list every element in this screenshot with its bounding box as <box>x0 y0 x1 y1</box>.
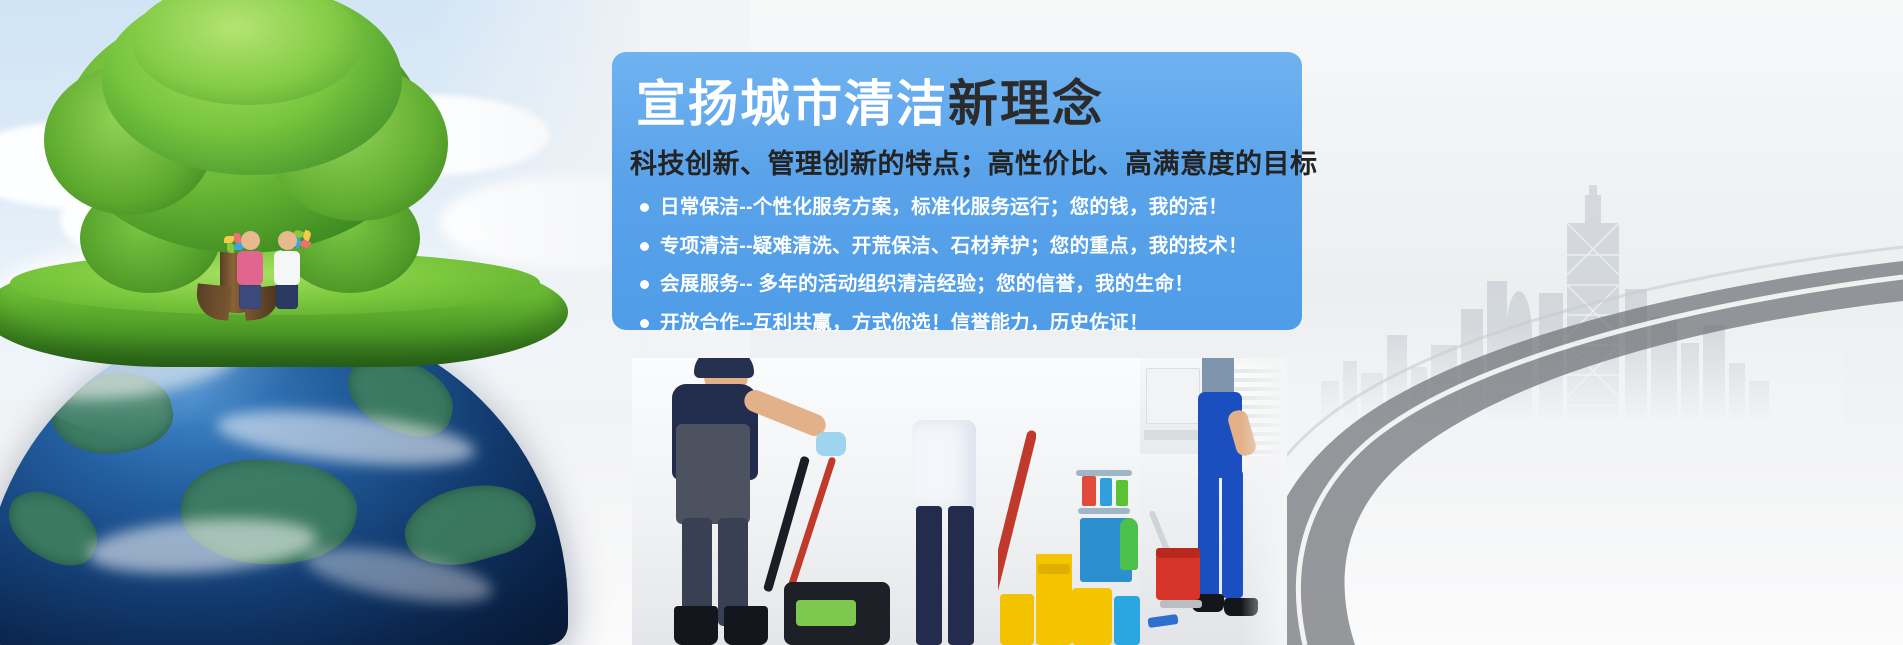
photo-floor-machine <box>632 358 900 645</box>
headline-highlight: 宣扬城市清洁 <box>636 76 948 132</box>
globe-tree-illustration <box>0 8 582 645</box>
list-item: 日常保洁--个性化服务方案，标准化服务运行；您的钱，我的活！ <box>640 192 1400 224</box>
list-item: 开放合作--互利共赢，方式你选！信誉能力，历史佐证！ <box>640 308 1400 340</box>
list-item-label: 开放合作--互利共赢，方式你选！信誉能力，历史佐证！ <box>660 308 1149 340</box>
feature-list: 日常保洁--个性化服务方案，标准化服务运行；您的钱，我的活！ 专项清洁--疑难清… <box>640 192 1400 346</box>
photo-white-uniform <box>900 358 998 645</box>
photo-cleaning-cart <box>1072 358 1140 645</box>
bullet-dot-icon <box>640 203 649 212</box>
list-item-label: 日常保洁--个性化服务方案，标准化服务运行；您的钱，我的活！ <box>660 192 1228 224</box>
list-item-label: 专项清洁--疑难清洗、开荒保洁、石材养护；您的重点，我的技术！ <box>660 231 1248 263</box>
child-figure <box>274 231 300 309</box>
list-item: 会展服务-- 多年的活动组织清洁经验；您的信誉，我的生命！ <box>640 269 1400 301</box>
photo-strip-fade <box>1241 358 1287 645</box>
headline-accent: 新理念 <box>948 76 1104 132</box>
photo-yellow-bucket <box>1036 358 1072 645</box>
list-item-label: 会展服务-- 多年的活动组织清洁经验；您的信誉，我的生命！ <box>660 269 1194 301</box>
bullet-dot-icon <box>640 319 649 328</box>
subtitle: 科技创新、管理创新的特点；高性价比、高满意度的目标 <box>630 142 1318 181</box>
photo-strip <box>632 358 1287 645</box>
photo-mop-handle <box>998 358 1036 645</box>
list-item: 专项清洁--疑难清洗、开荒保洁、石材养护；您的重点，我的技术！ <box>640 231 1400 263</box>
bullet-dot-icon <box>640 242 649 251</box>
child-figure <box>237 231 263 309</box>
promo-banner: 宣扬城市清洁新理念 科技创新、管理创新的特点；高性价比、高满意度的目标 日常保洁… <box>0 0 1903 645</box>
bullet-dot-icon <box>640 280 649 289</box>
page-title: 宣扬城市清洁新理念 <box>636 76 1104 134</box>
